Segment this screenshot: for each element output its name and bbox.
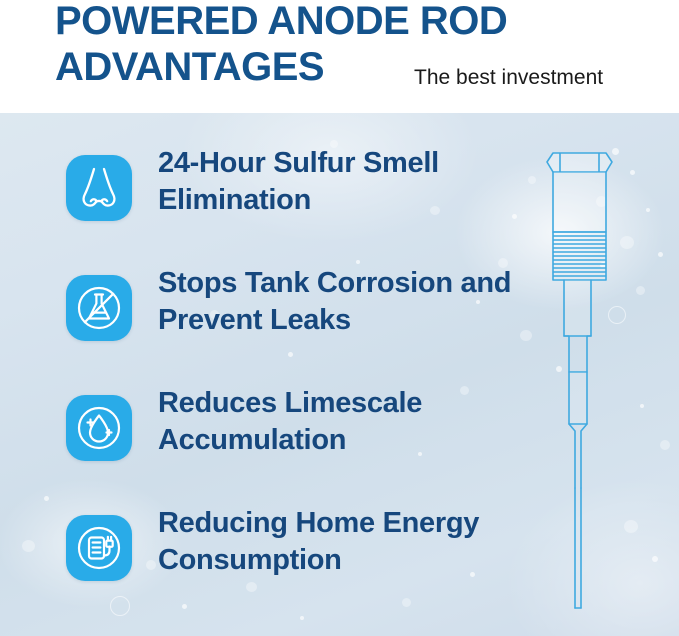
feature-label: Stops Tank Corrosion and Prevent Leaks: [158, 265, 560, 339]
product-infographic: POWERED ANODE ROD ADVANTAGES The best in…: [0, 0, 679, 636]
feature-row: Reduces Limescale Accumulation: [0, 395, 560, 499]
page-title-line-2: ADVANTAGES: [55, 44, 324, 90]
feature-row: Stops Tank Corrosion and Prevent Leaks: [0, 275, 560, 379]
page-title-line-1: POWERED ANODE ROD: [55, 0, 507, 44]
water-heater-plug-icon: [66, 515, 132, 581]
header-band: POWERED ANODE ROD ADVANTAGES The best in…: [0, 0, 679, 113]
feature-row: 24-Hour Sulfur Smell Elimination: [0, 155, 560, 259]
feature-label: Reducing Home Energy Consumption: [158, 505, 560, 579]
water-droplet-sparkle-icon: [66, 395, 132, 461]
feature-row: Reducing Home Energy Consumption: [0, 515, 560, 619]
no-corrosion-flask-icon: [66, 275, 132, 341]
nose-icon: [66, 155, 132, 221]
feature-label: 24-Hour Sulfur Smell Elimination: [158, 145, 560, 219]
page-subtitle: The best investment: [414, 65, 603, 91]
feature-label: Reduces Limescale Accumulation: [158, 385, 560, 459]
